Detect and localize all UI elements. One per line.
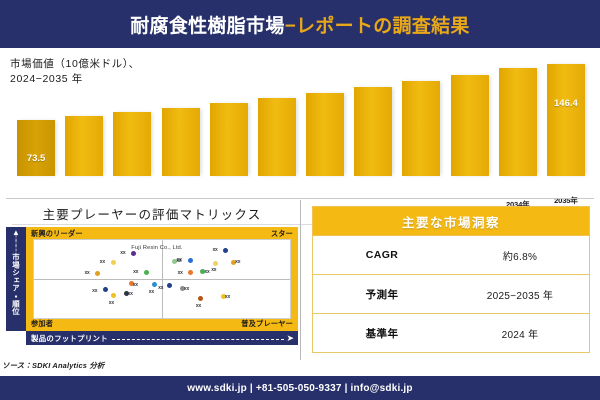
title-bar: 耐腐食性樹脂市場−レポートの調査結果	[0, 0, 600, 48]
matrix-data-point	[103, 287, 108, 292]
bar-column: 2025年	[65, 116, 103, 176]
bar-column: 2027年	[162, 108, 200, 176]
quadrant-label-pervasive-players: 普及プレーヤー	[241, 319, 293, 329]
matrix-data-point	[131, 251, 136, 256]
x-axis-label: 製品のフットプリント	[31, 333, 108, 344]
bar-series: 73.52024年2025年2026年2027年2028年2029年2030年2…	[12, 48, 590, 176]
bar-value-label: 146.4	[547, 98, 585, 109]
y-axis-label: 市場シェア・順位	[11, 253, 22, 315]
insights-row-value: 2025−2035 年	[451, 287, 589, 302]
matrix-y-axis: ▲ ¦ ¦ ¦ 市場シェア・順位	[6, 227, 26, 331]
matrix-data-point	[144, 270, 149, 275]
matrix-body: ▲ ¦ ¦ ¦ 市場シェア・順位 新興のリーダー スター 参加者 普及プレーヤー…	[6, 227, 298, 339]
matrix-data-point	[223, 248, 228, 253]
bar-value-label: 73.5	[17, 153, 55, 164]
bar-category-label: 2035年	[544, 195, 588, 206]
bar-column: 146.42035年	[547, 64, 585, 176]
page-title-accent: −レポートの調査結果	[285, 16, 470, 37]
matrix-data-point-label: xx	[120, 250, 125, 256]
matrix-data-point-label: xx	[158, 285, 163, 291]
bar: 146.4	[547, 64, 585, 176]
x-axis-dash-icon	[112, 339, 285, 340]
bar: 73.5	[17, 120, 55, 176]
section-divider-vertical	[300, 200, 301, 360]
quadrant-label-emerging-leaders: 新興のリーダー	[31, 229, 83, 239]
bar	[210, 103, 248, 176]
player-evaluation-matrix: 主要プレーヤーの評価マトリックス ▲ ¦ ¦ ¦ 市場シェア・順位 新興のリーダ…	[6, 201, 298, 359]
key-market-insights-table: 主要な市場洞察 CAGR約6.8%予測年2025−2035 年基準年2024 年	[312, 206, 590, 354]
page-title-main: 耐腐食性樹脂市場	[130, 16, 284, 37]
matrix-data-point-label: xx	[196, 303, 201, 309]
bar	[258, 98, 296, 176]
insights-row-value: 約6.8%	[451, 248, 589, 263]
quadrant-label-star: スター	[271, 229, 293, 239]
bar	[306, 93, 344, 176]
insights-row: 基準年2024 年	[312, 314, 590, 353]
bar-column: 2030年	[306, 93, 344, 176]
matrix-data-point-label: xx	[225, 294, 230, 300]
matrix-data-point-label: xx	[133, 282, 138, 288]
section-divider-horizontal	[6, 198, 594, 199]
matrix-data-point-label: xx	[212, 247, 217, 253]
matrix-data-point-label: xx	[204, 269, 209, 275]
bar	[499, 68, 537, 176]
matrix-plot-area: Fuji Resin Co., Ltd. xxxxxxxxxxxxxxxxxxx…	[33, 239, 291, 319]
matrix-data-point-label: xx	[176, 258, 181, 264]
bar	[162, 108, 200, 176]
matrix-data-point-label: xx	[84, 270, 89, 276]
highlight-company-label: Fuji Resin Co., Ltd.	[131, 245, 182, 251]
matrix-data-point	[213, 261, 218, 266]
quadrant-label-participants: 参加者	[31, 319, 53, 329]
matrix-data-point	[198, 296, 203, 301]
bar	[65, 116, 103, 176]
bar-column: 2029年	[258, 98, 296, 176]
bar-column: 2032年	[402, 81, 440, 176]
matrix-x-axis: 製品のフットプリント ➤	[26, 331, 298, 345]
bar	[354, 87, 392, 176]
bar-column: 2028年	[210, 103, 248, 176]
matrix-data-point	[95, 271, 100, 276]
y-axis-dash-icon: ¦	[15, 246, 17, 251]
matrix-data-point-label: xx	[149, 289, 154, 295]
bar-column: 2031年	[354, 87, 392, 176]
x-axis-arrow-icon: ➤	[286, 334, 294, 343]
insights-row: CAGR約6.8%	[312, 236, 590, 275]
bar-column: 2026年	[113, 112, 151, 176]
matrix-data-point	[111, 293, 116, 298]
matrix-title: 主要プレーヤーの評価マトリックス	[6, 201, 298, 223]
matrix-data-point-label: xx	[211, 267, 216, 273]
matrix-data-point-label: xx	[100, 259, 105, 265]
matrix-data-point-label: xx	[128, 291, 133, 297]
bar-column: 2034年	[499, 68, 537, 176]
matrix-quadrant-frame: 新興のリーダー スター 参加者 普及プレーヤー Fuji Resin Co., …	[26, 227, 298, 331]
matrix-data-point-label: xx	[178, 270, 183, 276]
insights-rows: CAGR約6.8%予測年2025−2035 年基準年2024 年	[312, 236, 590, 353]
bar	[402, 81, 440, 176]
insights-row-key: CAGR	[313, 249, 451, 261]
bar-column: 73.52024年	[17, 120, 55, 176]
matrix-data-point	[188, 258, 193, 263]
matrix-data-point-label: xx	[235, 259, 240, 265]
matrix-data-point-label: xx	[184, 286, 189, 292]
matrix-data-point	[167, 283, 172, 288]
footer-contact-text: www.sdki.jp | +81-505-050-9337 | info@sd…	[187, 383, 412, 394]
bar	[113, 112, 151, 176]
matrix-data-point	[111, 260, 116, 265]
bar-column: 2033年	[451, 75, 489, 176]
bar	[451, 75, 489, 176]
matrix-data-point-label: xx	[109, 300, 114, 306]
matrix-data-point	[188, 270, 193, 275]
insights-header-label: 主要な市場洞察	[402, 212, 500, 231]
source-note: ソース：SDKI Analytics 分析	[2, 360, 105, 371]
insights-row-value: 2024 年	[451, 326, 589, 341]
insights-row-key: 予測年	[313, 287, 451, 302]
insights-header: 主要な市場洞察	[312, 206, 590, 236]
insights-row-key: 基準年	[313, 326, 451, 341]
infographic-page: 耐腐食性樹脂市場−レポートの調査結果 市場価値（10億米ドル）、 2024−20…	[0, 0, 600, 400]
matrix-data-point-label: xx	[92, 288, 97, 294]
insights-row: 予測年2025−2035 年	[312, 275, 590, 314]
matrix-data-point	[152, 282, 157, 287]
matrix-data-point-label: xx	[133, 269, 138, 275]
footer-bar: www.sdki.jp | +81-505-050-9337 | info@sd…	[0, 376, 600, 400]
page-title: 耐腐食性樹脂市場−レポートの調査結果	[130, 11, 470, 38]
market-value-bar-chart: 市場価値（10億米ドル）、 2024−2035 年 73.52024年2025年…	[0, 48, 600, 196]
